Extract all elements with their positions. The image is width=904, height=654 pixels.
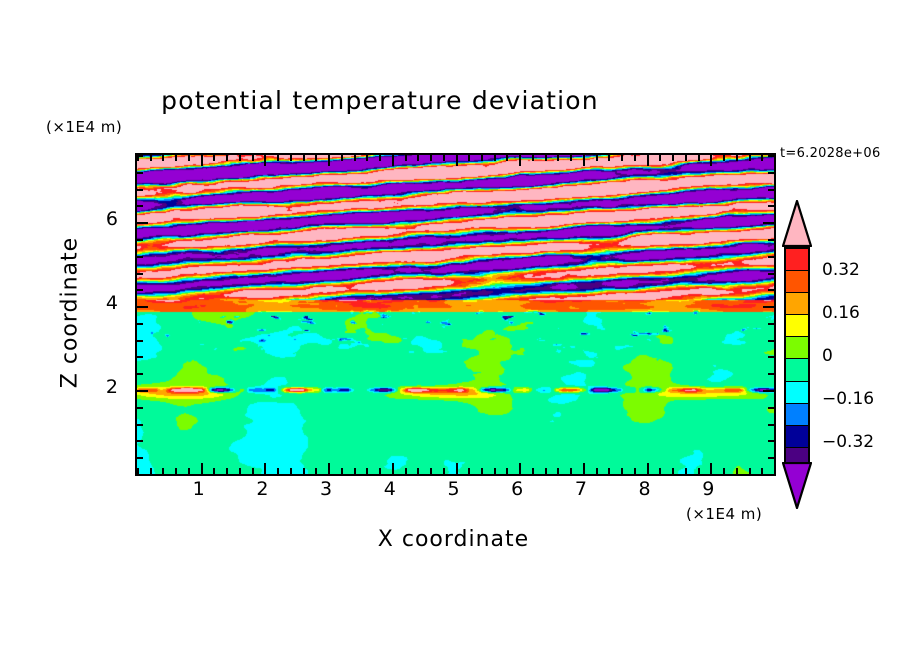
y-tick-left (137, 373, 143, 375)
y-tick-left (137, 256, 143, 258)
x-tick-bottom (570, 468, 572, 474)
x-tick-top (761, 155, 763, 161)
y-tick-right (768, 424, 774, 426)
x-tick-top (494, 155, 496, 161)
x-tick-bottom (456, 463, 458, 474)
x-tick-top (519, 155, 521, 166)
y-tick-left (137, 407, 143, 409)
y-tick-left (137, 457, 143, 459)
x-tick-bottom (188, 468, 190, 474)
x-tick-top (443, 155, 445, 161)
x-tick-label: 9 (688, 478, 728, 500)
x-tick-bottom (685, 468, 687, 474)
x-tick-bottom (710, 463, 712, 474)
x-tick-bottom (634, 468, 636, 474)
x-tick-bottom (468, 468, 470, 474)
y-tick-right (763, 306, 774, 308)
x-tick-bottom (506, 468, 508, 474)
x-tick-top (749, 155, 751, 161)
x-tick-bottom (201, 463, 203, 474)
x-tick-bottom (264, 463, 266, 474)
x-tick-bottom (290, 468, 292, 474)
x-tick-label: 6 (497, 478, 537, 500)
x-tick-bottom (659, 468, 661, 474)
x-tick-top (315, 155, 317, 161)
x-tick-bottom (239, 468, 241, 474)
colorbar-band (786, 336, 808, 358)
x-tick-label: 4 (370, 478, 410, 500)
y-axis-title: Z coordinate (58, 213, 83, 413)
x-tick-top (366, 155, 368, 161)
colorbar-bands (784, 247, 810, 462)
x-tick-bottom (774, 468, 776, 474)
x-tick-bottom (608, 468, 610, 474)
y-tick-left (137, 189, 143, 191)
x-tick-top (277, 155, 279, 161)
y-tick-right (768, 323, 774, 325)
x-tick-top (557, 155, 559, 161)
x-tick-bottom (354, 468, 356, 474)
x-tick-bottom (366, 468, 368, 474)
x-tick-top (596, 155, 598, 161)
x-tick-bottom (647, 463, 649, 474)
x-tick-top (647, 155, 649, 166)
y-tick-left (137, 440, 143, 442)
x-tick-bottom (749, 468, 751, 474)
y-tick-label: 4 (84, 292, 118, 314)
colorbar-under-cap-icon (782, 462, 812, 509)
colorbar-band (786, 425, 808, 447)
x-tick-bottom (379, 468, 381, 474)
contour-plot-area (135, 153, 776, 476)
y-tick-left (137, 390, 148, 392)
x-tick-top (506, 155, 508, 161)
y-tick-right (768, 239, 774, 241)
y-tick-left (137, 172, 143, 174)
x-tick-top (570, 155, 572, 161)
x-tick-top (303, 155, 305, 161)
x-tick-bottom (303, 468, 305, 474)
y-tick-right (763, 390, 774, 392)
x-tick-top (774, 155, 776, 161)
x-tick-bottom (583, 463, 585, 474)
x-tick-bottom (557, 468, 559, 474)
x-tick-bottom (723, 468, 725, 474)
z-axis-unit-label: (×1E4 m) (46, 118, 122, 136)
x-tick-top (175, 155, 177, 161)
y-tick-right (768, 189, 774, 191)
x-tick-top (608, 155, 610, 161)
x-tick-bottom (328, 463, 330, 474)
y-tick-label: 6 (84, 208, 118, 230)
x-tick-top (405, 155, 407, 161)
x-tick-top (481, 155, 483, 161)
colorbar-tick-label: 0.32 (822, 260, 860, 280)
x-tick-bottom (417, 468, 419, 474)
y-tick-right (768, 440, 774, 442)
x-tick-bottom (494, 468, 496, 474)
y-tick-right (768, 289, 774, 291)
colorbar-band (786, 292, 808, 314)
y-tick-left (137, 340, 143, 342)
x-tick-bottom (392, 463, 394, 474)
y-tick-left (137, 155, 143, 157)
x-tick-bottom (761, 468, 763, 474)
y-tick-right (768, 407, 774, 409)
x-tick-top (532, 155, 534, 161)
x-tick-top (621, 155, 623, 161)
x-tick-top (252, 155, 254, 161)
x-tick-bottom (519, 463, 521, 474)
y-tick-right (763, 222, 774, 224)
y-tick-right (768, 273, 774, 275)
x-tick-bottom (430, 468, 432, 474)
x-tick-top (634, 155, 636, 161)
x-tick-top (379, 155, 381, 161)
colorbar-over-cap-icon (782, 200, 812, 247)
x-axis-title: X coordinate (135, 527, 772, 552)
colorbar-tick-label: 0 (822, 346, 833, 366)
x-tick-bottom (545, 468, 547, 474)
y-tick-right (768, 457, 774, 459)
x-tick-top (213, 155, 215, 161)
y-tick-left (137, 222, 148, 224)
y-tick-right (768, 155, 774, 157)
y-tick-right (768, 172, 774, 174)
x-tick-label: 5 (434, 478, 474, 500)
x-tick-top (341, 155, 343, 161)
y-tick-right (768, 356, 774, 358)
x-tick-bottom (481, 468, 483, 474)
x-tick-bottom (443, 468, 445, 474)
x-tick-top (583, 155, 585, 166)
x-tick-bottom (226, 468, 228, 474)
y-tick-right (768, 205, 774, 207)
x-tick-top (710, 155, 712, 166)
y-tick-left (137, 289, 143, 291)
x-tick-top (239, 155, 241, 161)
x-tick-bottom (698, 468, 700, 474)
y-tick-right (768, 373, 774, 375)
x-tick-bottom (150, 468, 152, 474)
x-tick-bottom (175, 468, 177, 474)
x-tick-bottom (277, 468, 279, 474)
x-tick-bottom (213, 468, 215, 474)
colorbar-band (786, 249, 808, 270)
x-tick-top (162, 155, 164, 161)
time-annotation: t=6.2028e+06 (780, 146, 881, 161)
colorbar-band (786, 381, 808, 403)
x-tick-top (201, 155, 203, 166)
y-tick-label: 2 (84, 376, 118, 398)
y-tick-left (137, 239, 143, 241)
x-tick-top (545, 155, 547, 161)
x-tick-top (290, 155, 292, 161)
contour-field-canvas (137, 155, 774, 474)
y-tick-left (137, 306, 148, 308)
colorbar: 0.320.160−0.16−0.32 (778, 200, 898, 510)
y-tick-left (137, 424, 143, 426)
x-tick-bottom (162, 468, 164, 474)
y-tick-right (768, 256, 774, 258)
y-tick-left (137, 474, 143, 476)
x-tick-bottom (621, 468, 623, 474)
x-tick-top (188, 155, 190, 161)
colorbar-tick-label: −0.32 (822, 432, 874, 452)
y-tick-right (768, 474, 774, 476)
x-tick-top (264, 155, 266, 166)
colorbar-band (786, 403, 808, 425)
y-tick-right (768, 340, 774, 342)
x-tick-top (226, 155, 228, 161)
x-tick-top (736, 155, 738, 161)
x-tick-top (698, 155, 700, 161)
x-tick-top (659, 155, 661, 161)
x-tick-bottom (532, 468, 534, 474)
x-tick-top (328, 155, 330, 166)
x-axis-unit-label: (×1E4 m) (686, 505, 762, 523)
x-tick-top (468, 155, 470, 161)
x-tick-bottom (341, 468, 343, 474)
y-tick-left (137, 323, 143, 325)
x-tick-top (354, 155, 356, 161)
x-tick-bottom (596, 468, 598, 474)
x-tick-top (685, 155, 687, 161)
colorbar-band (786, 314, 808, 336)
x-tick-label: 2 (242, 478, 282, 500)
x-tick-bottom (672, 468, 674, 474)
y-tick-left (137, 205, 143, 207)
x-tick-bottom (315, 468, 317, 474)
y-tick-left (137, 273, 143, 275)
x-tick-label: 1 (179, 478, 219, 500)
x-tick-top (430, 155, 432, 161)
x-tick-top (456, 155, 458, 166)
x-tick-top (723, 155, 725, 161)
x-tick-bottom (736, 468, 738, 474)
x-tick-label: 7 (561, 478, 601, 500)
colorbar-band (786, 358, 808, 380)
x-tick-bottom (405, 468, 407, 474)
colorbar-tick-label: 0.16 (822, 303, 860, 323)
colorbar-band (786, 270, 808, 292)
y-tick-left (137, 356, 143, 358)
page-title: potential temperature deviation (0, 86, 760, 115)
x-tick-label: 8 (625, 478, 665, 500)
x-tick-top (672, 155, 674, 161)
x-tick-top (150, 155, 152, 161)
x-tick-bottom (252, 468, 254, 474)
x-tick-top (392, 155, 394, 166)
colorbar-tick-label: −0.16 (822, 389, 874, 409)
x-tick-label: 3 (306, 478, 346, 500)
x-tick-top (417, 155, 419, 161)
